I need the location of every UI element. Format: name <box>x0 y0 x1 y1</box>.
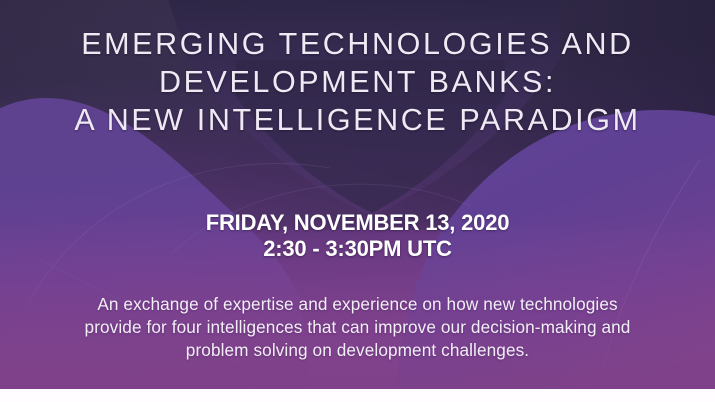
event-date: FRIDAY, NOVEMBER 13, 2020 <box>0 210 715 236</box>
event-description-line-1: An exchange of expertise and experience … <box>28 293 687 316</box>
event-banner: EMERGING TECHNOLOGIES AND DEVELOPMENT BA… <box>0 0 715 402</box>
event-title-line-2: DEVELOPMENT BANKS: <box>0 63 715 101</box>
event-title-line-3: A NEW INTELLIGENCE PARADIGM <box>0 101 715 139</box>
event-datetime: FRIDAY, NOVEMBER 13, 2020 2:30 - 3:30PM … <box>0 210 715 262</box>
event-description-line-3: problem solving on development challenge… <box>28 339 687 362</box>
event-title: EMERGING TECHNOLOGIES AND DEVELOPMENT BA… <box>0 25 715 139</box>
event-description: An exchange of expertise and experience … <box>28 293 687 362</box>
event-description-line-2: provide for four intelligences that can … <box>28 316 687 339</box>
event-title-line-1: EMERGING TECHNOLOGIES AND <box>0 25 715 63</box>
event-time: 2:30 - 3:30PM UTC <box>0 236 715 262</box>
banner-content: EMERGING TECHNOLOGIES AND DEVELOPMENT BA… <box>0 0 715 402</box>
